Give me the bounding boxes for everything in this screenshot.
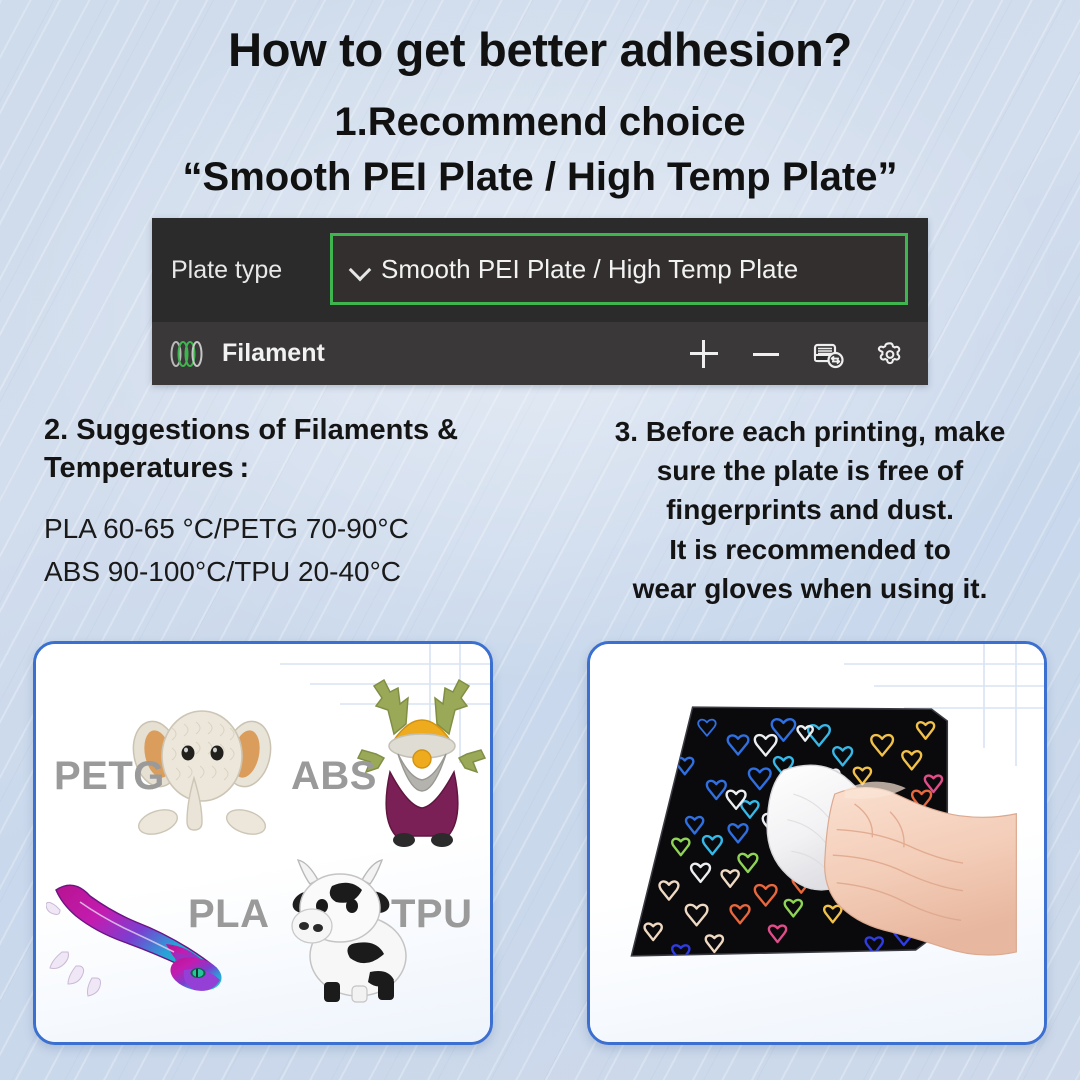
filament-settings-button[interactable] — [874, 338, 906, 370]
gear-icon — [875, 339, 905, 369]
filament-label: Filament — [222, 339, 325, 368]
step3-line4: It is recommended to — [570, 530, 1050, 569]
step2-temps-line2: ABS 90-100°C/TPU 20-40°C — [44, 553, 544, 592]
poster-root: How to get better adhesion? 1.Recommend … — [0, 0, 1080, 1080]
materials-card: PETG ABS PLA TPU — [33, 641, 493, 1045]
step1-heading-line1: 1.Recommend choice — [0, 100, 1080, 145]
plate-type-value: Smooth PEI Plate / High Temp Plate — [381, 254, 798, 285]
page-title: How to get better adhesion? — [0, 22, 1080, 77]
step2-heading-line1: 2. Suggestions of Filaments & — [44, 412, 544, 450]
step2-column: 2. Suggestions of Filaments & Temperatur… — [44, 412, 544, 591]
step3-line3: fingerprints and dust. — [570, 490, 1050, 529]
step3-line1: 3. Before each printing, make — [570, 412, 1050, 451]
plate-type-row: Plate type Smooth PEI Plate / High Temp … — [152, 218, 928, 322]
filament-spool-icon — [169, 339, 205, 369]
step2-heading-line2: Temperatures : — [44, 450, 544, 488]
slicer-ui-panel: Plate type Smooth PEI Plate / High Temp … — [152, 218, 928, 385]
plus-icon — [690, 340, 718, 368]
material-label-tpu: TPU — [391, 892, 473, 937]
filament-row: Filament — [152, 322, 928, 385]
material-label-pla: PLA — [188, 892, 270, 937]
remove-filament-button[interactable] — [750, 338, 782, 370]
chevron-down-icon — [349, 258, 371, 280]
step3-column: 3. Before each printing, make sure the p… — [570, 412, 1050, 608]
step2-temps-line1: PLA 60-65 °C/PETG 70-90°C — [44, 510, 544, 549]
step1-heading-line2: “Smooth PEI Plate / High Temp Plate” — [0, 155, 1080, 200]
cleaning-card — [587, 641, 1047, 1045]
filament-actions — [688, 322, 906, 385]
filament-sync-icon — [812, 338, 844, 370]
filament-sync-button[interactable] — [812, 338, 844, 370]
step3-line5: wear gloves when using it. — [570, 569, 1050, 608]
add-filament-button[interactable] — [688, 338, 720, 370]
material-label-abs: ABS — [291, 754, 377, 799]
minus-icon — [752, 340, 780, 368]
step3-line2: sure the plate is free of — [570, 451, 1050, 490]
plate-type-label: Plate type — [171, 256, 282, 285]
plate-type-dropdown[interactable]: Smooth PEI Plate / High Temp Plate — [330, 233, 908, 305]
hand-wiping-build-plate-photo — [590, 644, 1044, 1043]
material-label-petg: PETG — [54, 754, 165, 799]
